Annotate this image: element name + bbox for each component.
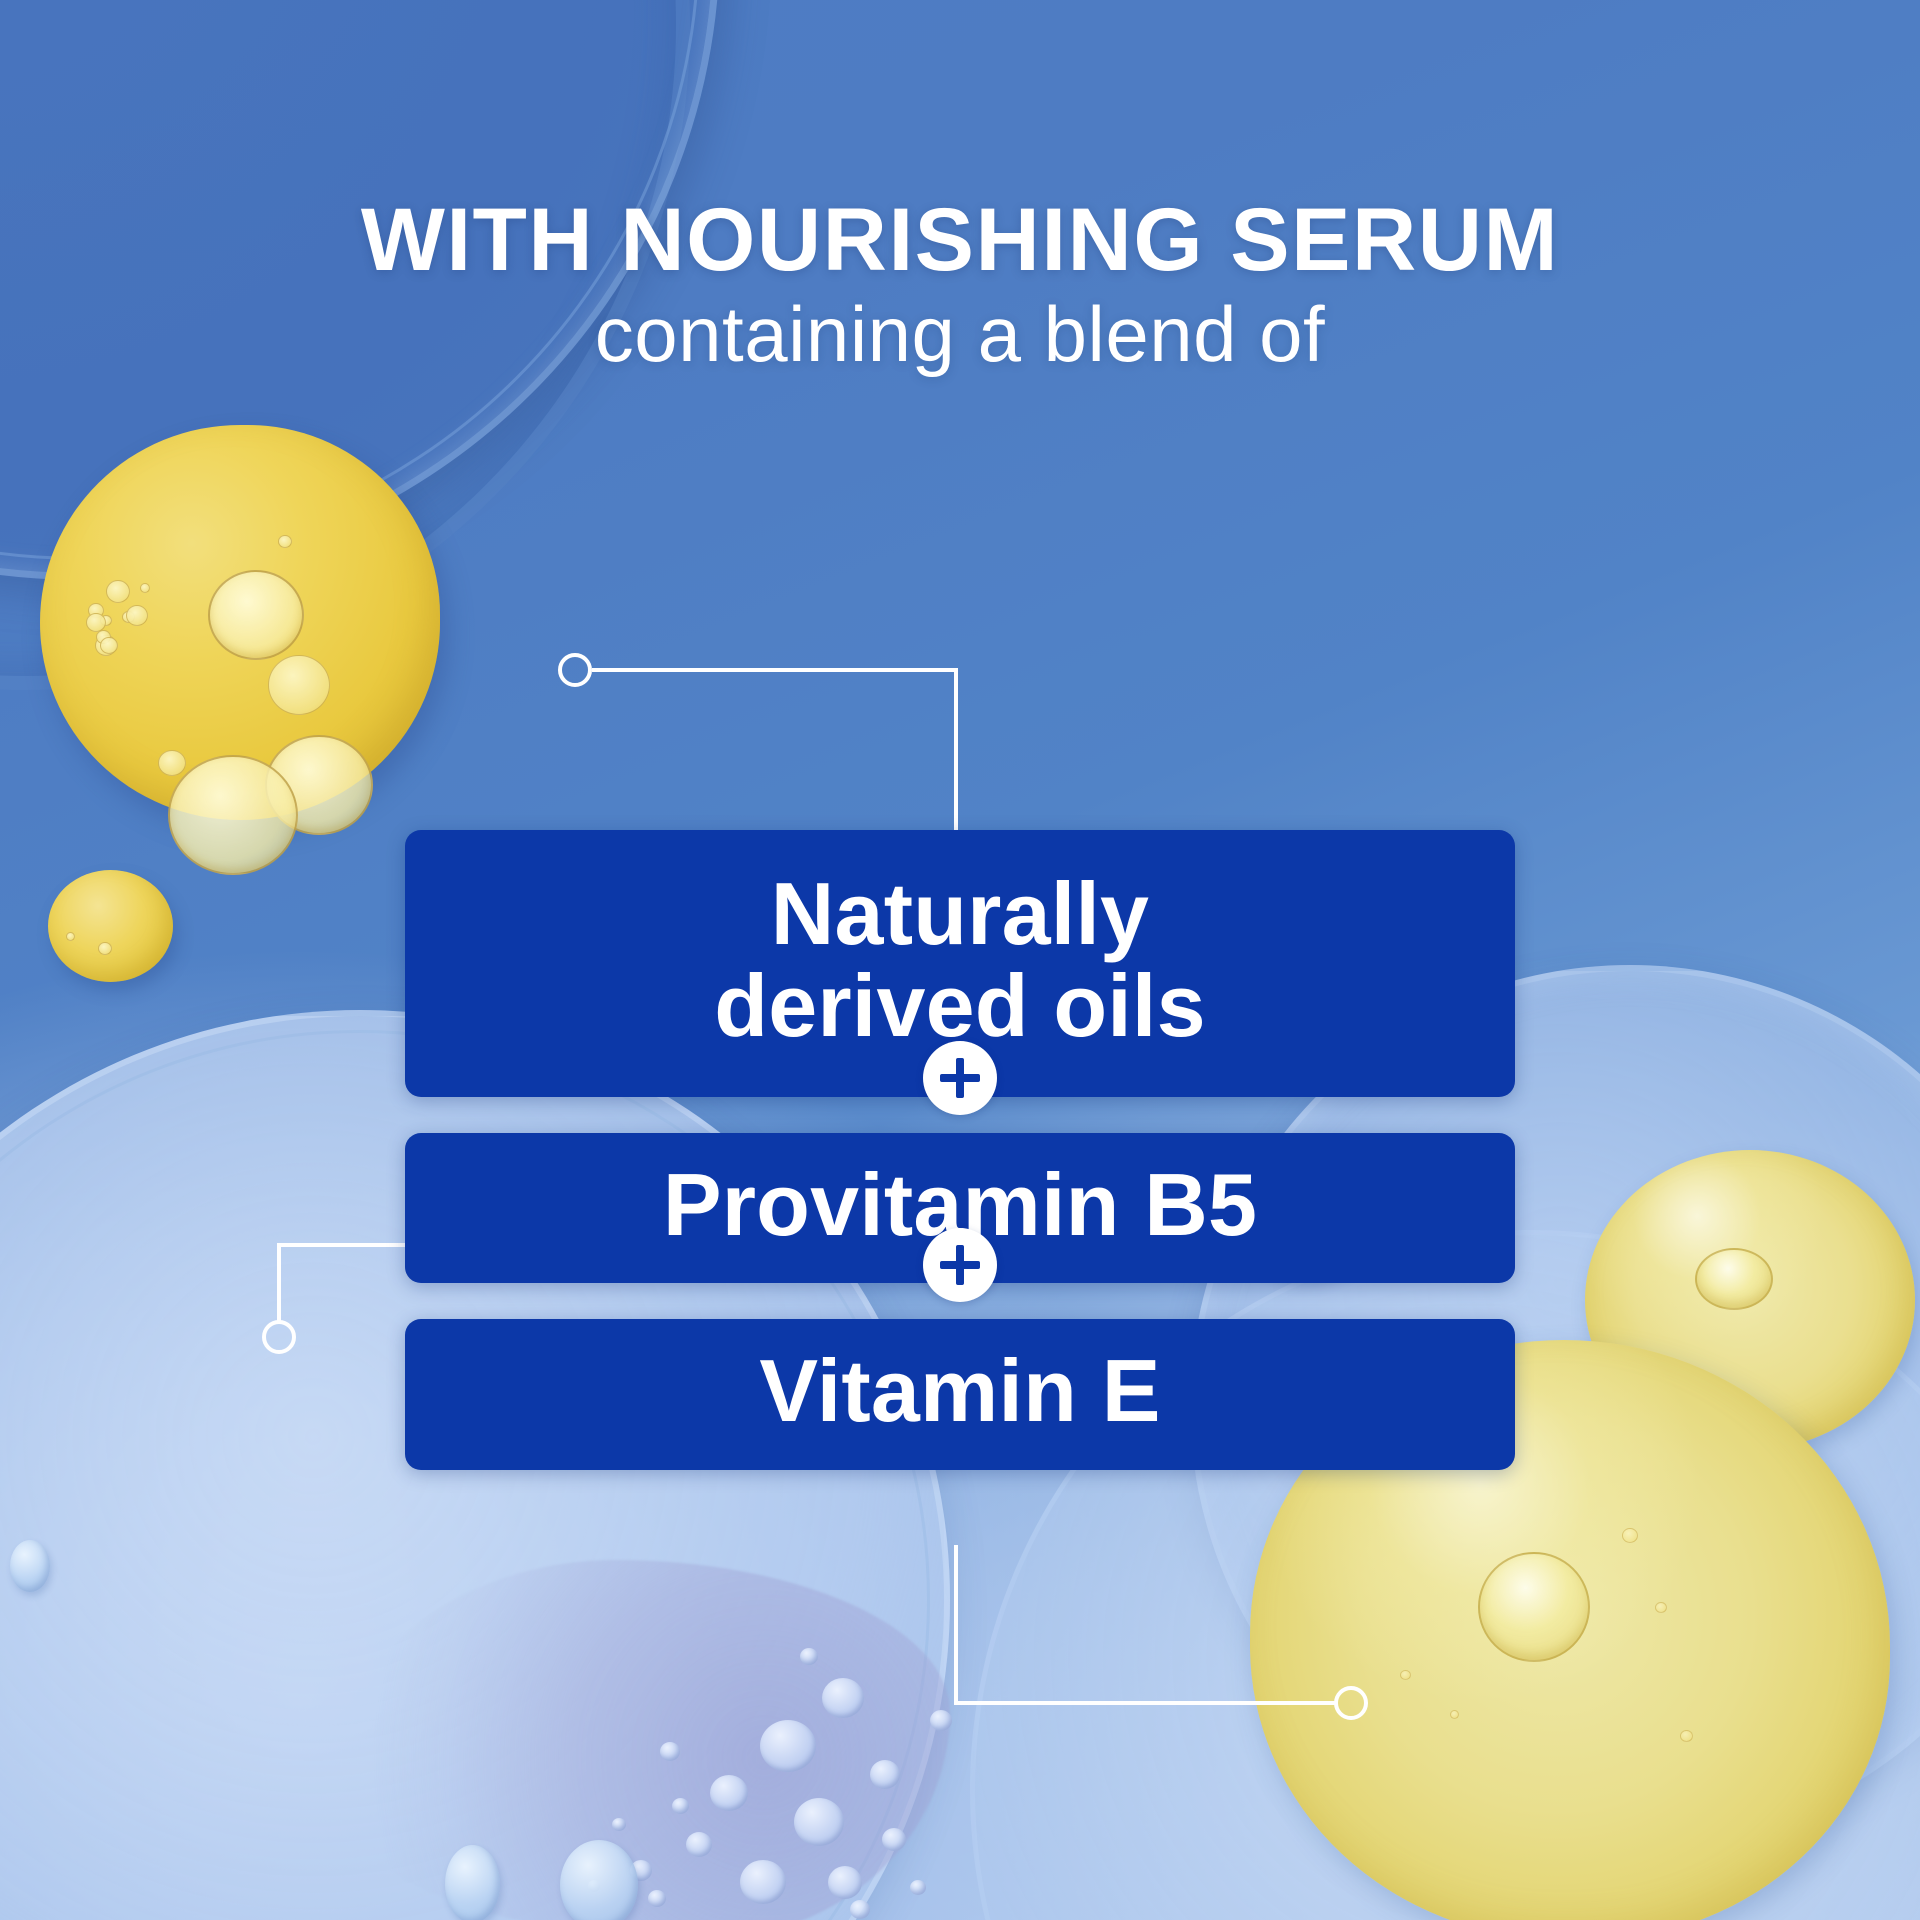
callout-line-top-vertical [954, 668, 958, 840]
oil-bubble [158, 750, 186, 776]
oil-droplet-small [48, 870, 173, 982]
oil-bubble [86, 613, 106, 632]
oil-bubble [265, 735, 373, 835]
oil-bubble [1622, 1528, 1638, 1543]
oil-bubble [1400, 1670, 1411, 1680]
oil-droplet-large [40, 425, 440, 820]
oil-bubble [98, 942, 112, 955]
callout-line-top-horizontal [592, 668, 958, 672]
ingredient-label-line2: derived oils [445, 960, 1475, 1052]
oil-droplet-peak [1478, 1552, 1590, 1662]
subheadline-text: containing a blend of [0, 295, 1920, 373]
oil-bubble [140, 583, 150, 593]
oil-spread-medium [1585, 1150, 1915, 1450]
oil-bubble [100, 615, 112, 626]
oil-droplet-peak [1695, 1248, 1773, 1310]
callout-line-left-vertical [277, 1243, 281, 1323]
oil-bubble [1450, 1710, 1459, 1719]
oil-bubble [168, 755, 298, 875]
plus-icon [923, 1228, 997, 1302]
oil-bubble [278, 535, 292, 548]
callout-marker-left [262, 1320, 296, 1354]
foam-bubbles [330, 1560, 970, 1920]
plus-icon [923, 1041, 997, 1115]
oil-bubble [96, 630, 111, 644]
oil-bubble [100, 637, 118, 654]
oil-bubble [95, 635, 117, 656]
oil-bubble [106, 580, 130, 603]
oil-bubble [1655, 1602, 1667, 1613]
oil-bubble [88, 603, 104, 618]
water-droplet [10, 1540, 50, 1592]
water-droplet [445, 1845, 500, 1920]
foam-cluster [330, 1560, 950, 1920]
callout-marker-top [558, 653, 592, 687]
oil-bubble [268, 655, 330, 715]
water-droplet [560, 1840, 638, 1920]
ingredient-label-line1: Naturally [445, 868, 1475, 960]
ingredient-stack: Naturally derived oils Provitamin B5 Vit… [405, 830, 1515, 1470]
headline-text: WITH NOURISHING SERUM [0, 195, 1920, 284]
promo-image-canvas: WITH NOURISHING SERUM containing a blend… [0, 0, 1920, 1920]
callout-line-bottom-vertical [954, 1545, 958, 1703]
callout-marker-bottom-right [1334, 1686, 1368, 1720]
oil-bubble [1680, 1730, 1693, 1742]
oil-bubble [126, 605, 148, 626]
ingredient-pill-vitamin-e[interactable]: Vitamin E [405, 1319, 1515, 1469]
headline-block: WITH NOURISHING SERUM [0, 195, 1920, 284]
oil-bubble [122, 611, 135, 623]
oil-bubble [208, 570, 304, 660]
oil-bubble [66, 932, 75, 941]
callout-line-bottom-horizontal [954, 1701, 1338, 1705]
